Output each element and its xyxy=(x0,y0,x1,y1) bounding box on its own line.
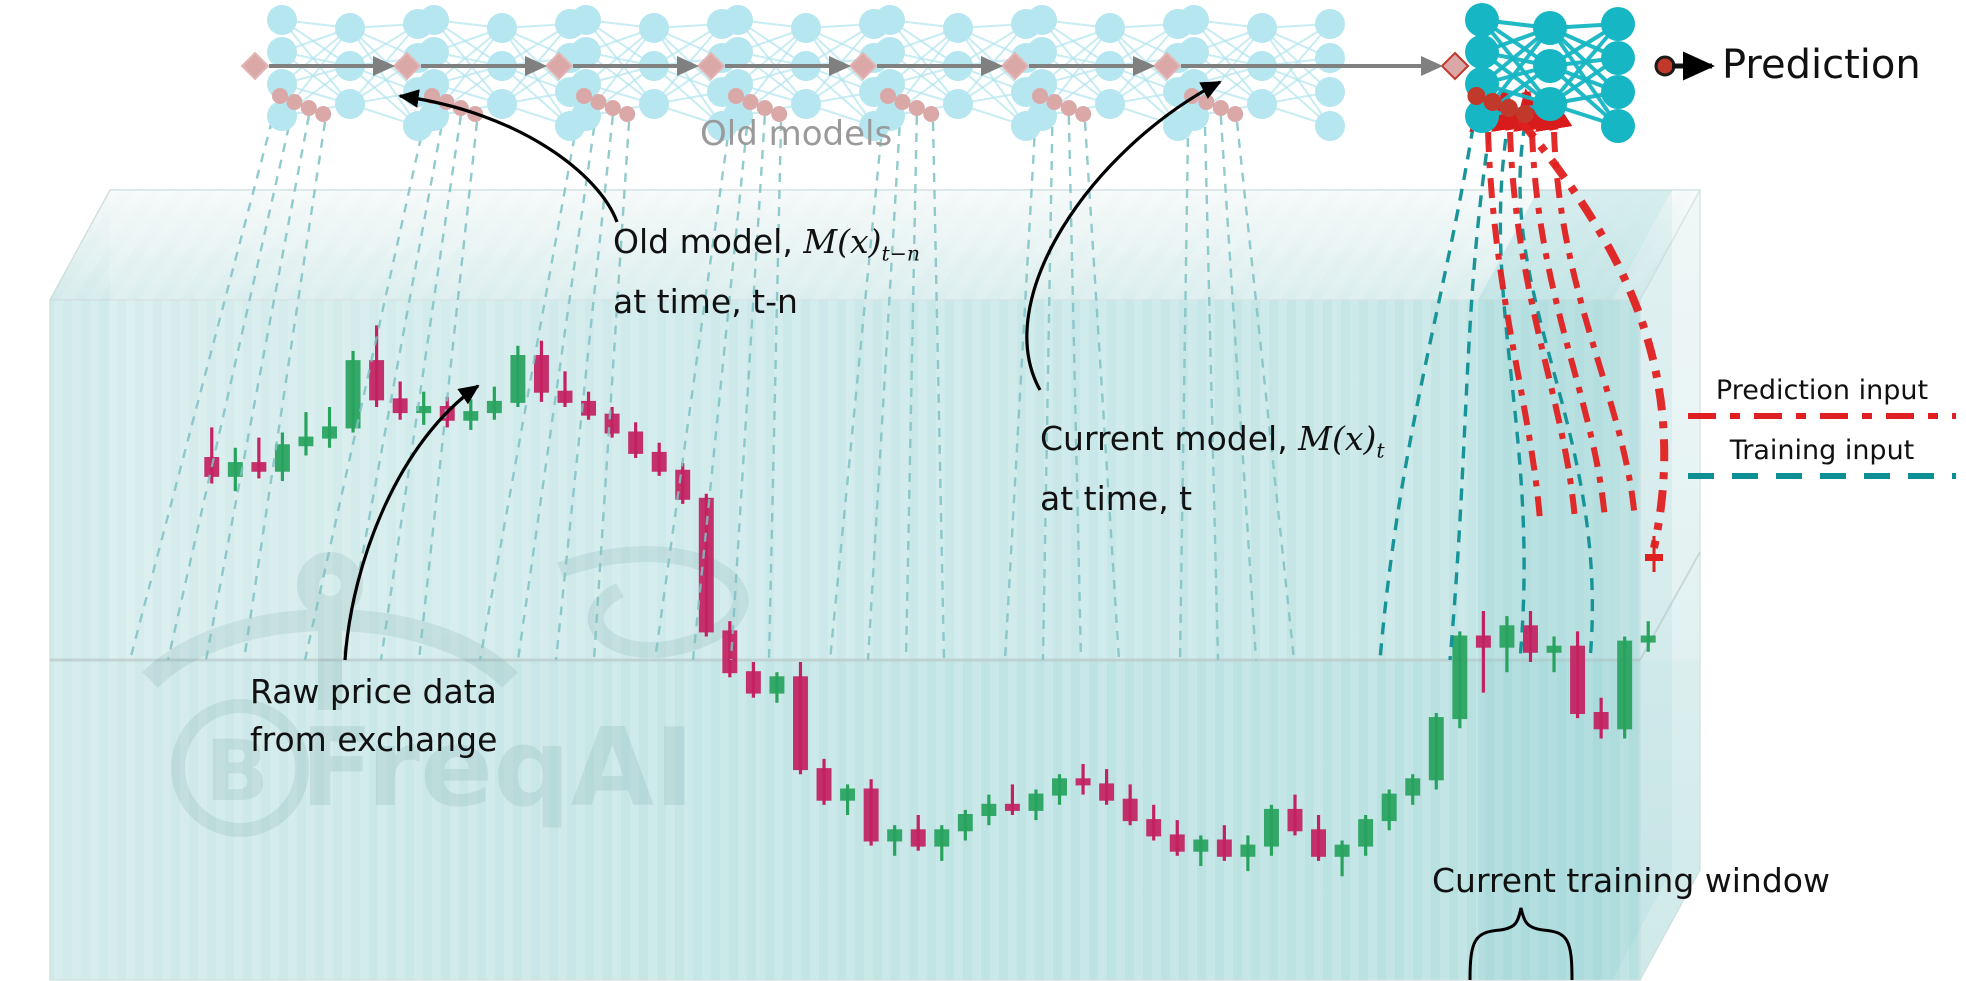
legend-label-prediction-input: Prediction input xyxy=(1688,375,1956,406)
raw-price-callout: Raw price data from exchange xyxy=(250,668,497,764)
current-model-subscript: t xyxy=(1376,439,1384,463)
prediction-label: Prediction xyxy=(1722,42,1921,88)
old-model-text: Old model, xyxy=(613,222,803,261)
current-model-text: Current model, xyxy=(1040,419,1298,458)
current-model-callout: Current model, M(x)t at time, t xyxy=(1040,415,1385,523)
neural-network-row xyxy=(242,3,1635,143)
current-model-math: M(x) xyxy=(1298,419,1376,458)
legend-swatch-prediction-input xyxy=(1688,413,1956,419)
raw-price-line2: from exchange xyxy=(250,716,497,764)
current-training-window-label: Current training window xyxy=(1432,861,1830,900)
diagram-root: FreqAI B xyxy=(0,0,1966,981)
old-model-time: at time, t-n xyxy=(613,278,920,326)
raw-price-line1: Raw price data xyxy=(250,668,497,716)
old-model-callout: Old model, M(x)t−n at time, t-n xyxy=(613,218,920,326)
old-model-subscript: t−n xyxy=(881,242,920,266)
diagram-canvas: FreqAI B xyxy=(0,0,1966,981)
legend: Prediction input Training input xyxy=(1688,375,1956,495)
prediction-output-arrow xyxy=(1656,57,1712,75)
legend-swatch-training-input xyxy=(1688,473,1956,479)
old-model-math: M(x) xyxy=(803,222,881,261)
legend-label-training-input: Training input xyxy=(1688,435,1956,466)
old-models-label: Old models xyxy=(700,114,892,154)
current-model-time: at time, t xyxy=(1040,475,1385,523)
